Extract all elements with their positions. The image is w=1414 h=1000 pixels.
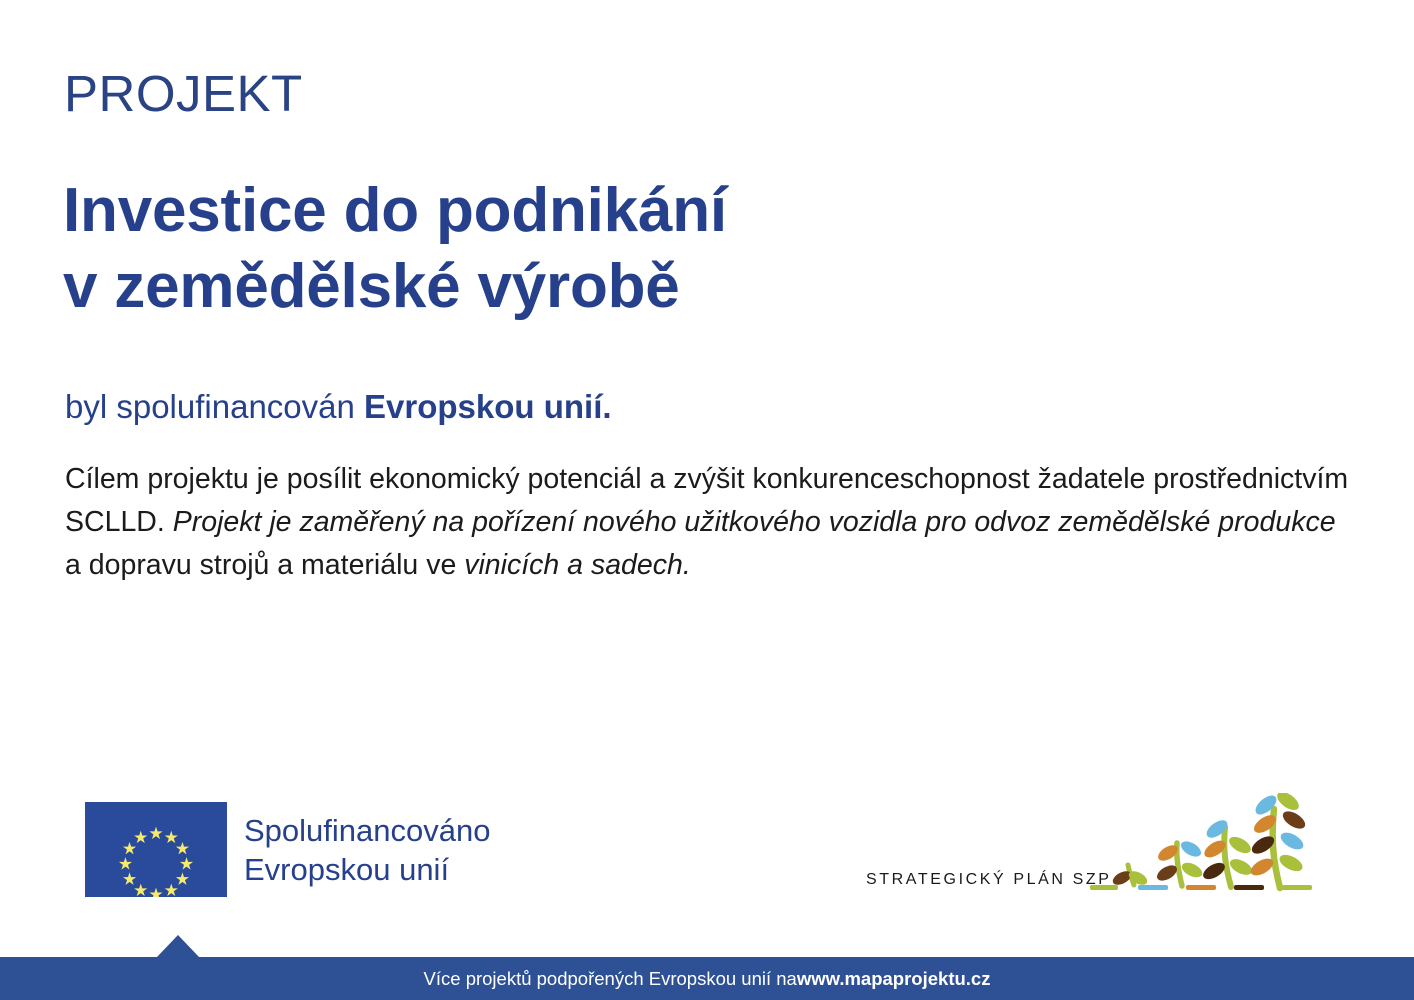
growing-plants-icon xyxy=(1088,793,1316,903)
szp-strategic-plan-logo: STRATEGICKÝ PLÁN SZP xyxy=(866,793,1316,903)
eu-cofunding-caption: Spolufinancováno Evropskou unií xyxy=(244,811,490,889)
eu-cofunding-logo: Spolufinancováno Evropskou unií xyxy=(85,802,490,897)
page-eyebrow: PROJEKT xyxy=(64,66,303,122)
page-title-line-2: v zemědělské výrobě xyxy=(63,249,727,325)
eu-caption-line-2: Evropskou unií xyxy=(244,850,490,889)
page-title-line-1: Investice do podnikání xyxy=(63,173,727,249)
page-title: Investice do podnikání v zemědělské výro… xyxy=(63,173,727,325)
page-subtitle-bold: Evropskou unií. xyxy=(364,388,612,425)
project-poster: PROJEKT Investice do podnikání v zeměděl… xyxy=(0,0,1414,1000)
description-segment-italic-2: vinicích a sadech. xyxy=(464,549,691,581)
szp-logo-text: STRATEGICKÝ PLÁN SZP xyxy=(866,871,1112,889)
banner-text-regular: Více projektů podpořených Evropskou unií… xyxy=(424,968,797,990)
description-segment-roman-2: a dopravu strojů a materiálu ve xyxy=(65,549,464,581)
project-description: Cílem projektu je posílit ekonomický pot… xyxy=(65,458,1355,587)
description-segment-italic-1: Projekt je zaměřený na pořízení nového u… xyxy=(173,506,1336,538)
page-subtitle-regular: byl spolufinancován xyxy=(65,388,364,425)
eu-flag-icon xyxy=(85,802,227,897)
banner-notch-triangle xyxy=(157,935,199,957)
banner-website-link[interactable]: www.mapaprojektu.cz xyxy=(797,968,991,990)
eu-caption-line-1: Spolufinancováno xyxy=(244,811,490,850)
bottom-banner-text: Více projektů podpořených Evropskou unií… xyxy=(0,957,1414,1000)
page-subtitle: byl spolufinancován Evropskou unií. xyxy=(65,387,612,427)
